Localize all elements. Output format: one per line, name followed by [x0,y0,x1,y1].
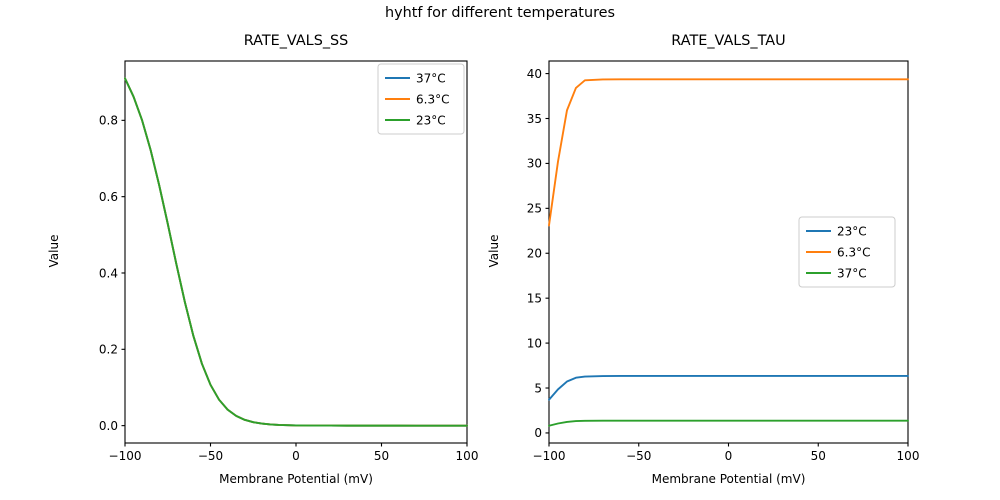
x-tick-label: 50 [374,449,389,463]
x-tick-label: −100 [533,449,566,463]
axes-left: −100−500501000.00.20.40.60.837°C6.3°C23°… [99,61,479,463]
x-tick-label: 50 [811,449,826,463]
y-tick-label: 30 [527,157,542,171]
legend-label-6.3°C: 6.3°C [416,92,449,106]
legend-label-6.3°C: 6.3°C [837,245,870,259]
x-tick-label: 0 [292,449,300,463]
x-tick-label: −50 [626,449,651,463]
x-tick-label: −50 [198,449,223,463]
x-tick-label: 100 [456,449,479,463]
y-tick-label: 15 [527,291,542,305]
y-tick-label: 0.6 [99,190,118,204]
x-tick-label: 0 [725,449,733,463]
x-tick-label: −100 [109,449,142,463]
y-tick-label: 40 [527,67,542,81]
legend-right[interactable]: 23°C6.3°C37°C [799,217,895,287]
axes-right: −100−50050100051015202530354023°C6.3°C37… [527,61,920,463]
legend-left[interactable]: 37°C6.3°C23°C [378,64,464,134]
y-tick-label: 0.4 [99,266,118,280]
y-tick-label: 0.8 [99,114,118,128]
legend-label-37°C: 37°C [416,71,446,85]
figure-canvas: hyhtf for different temperatures RATE_VA… [0,0,1000,500]
y-tick-label: 20 [527,247,542,261]
y-tick-label: 0.0 [99,419,118,433]
legend-label-23°C: 23°C [837,224,867,238]
y-tick-label: 0 [534,426,542,440]
y-tick-label: 35 [527,112,542,126]
y-tick-label: 25 [527,202,542,216]
plot-area: −100−500501000.00.20.40.60.837°C6.3°C23°… [0,0,1000,500]
y-tick-label: 0.2 [99,343,118,357]
x-tick-label: 100 [897,449,920,463]
y-tick-label: 10 [527,336,542,350]
y-tick-label: 5 [534,381,542,395]
legend-label-23°C: 23°C [416,113,446,127]
legend-label-37°C: 37°C [837,266,867,280]
data-line-37°C [549,421,908,426]
data-line-6.3°C [549,79,908,225]
data-line-23°C [549,376,908,400]
